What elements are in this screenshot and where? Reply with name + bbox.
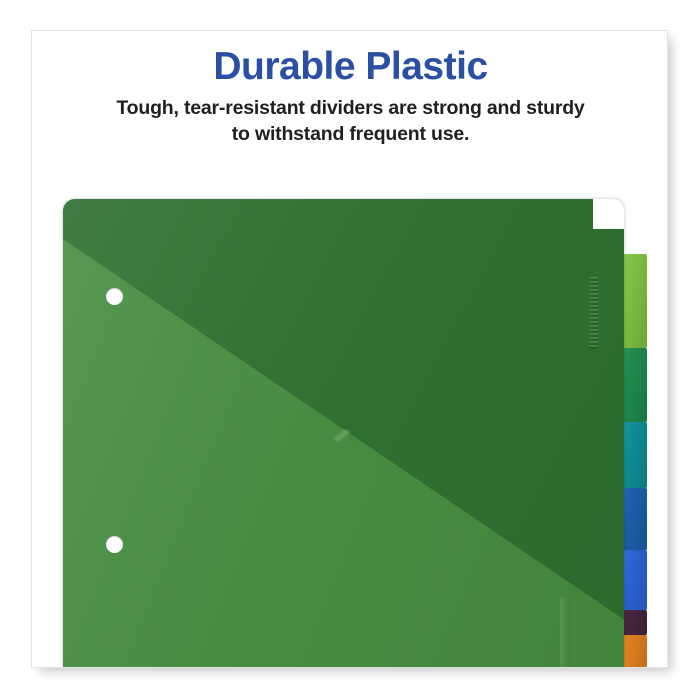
sheet-corner-notch [593, 199, 624, 229]
subtitle-line-2: to withstand frequent use. [232, 123, 469, 145]
diagonal-pocket [63, 199, 624, 668]
divider-sheet [63, 199, 624, 668]
headline-block: Durable Plastic Tough, tear-resistant di… [32, 47, 668, 147]
divider-assembly [32, 186, 668, 668]
subtitle: Tough, tear-resistant dividers are stron… [32, 96, 668, 147]
product-card: Durable Plastic Tough, tear-resistant di… [31, 30, 668, 668]
reinforced-ridge-strip [589, 277, 598, 349]
product-image-canvas: Durable Plastic Tough, tear-resistant di… [0, 0, 700, 700]
pocket-sheen [63, 199, 624, 668]
punch-hole-bottom [106, 536, 123, 553]
punch-hole-top [106, 288, 123, 305]
page-title: Durable Plastic [32, 47, 668, 88]
subtitle-line-1: Tough, tear-resistant dividers are stron… [116, 97, 584, 119]
